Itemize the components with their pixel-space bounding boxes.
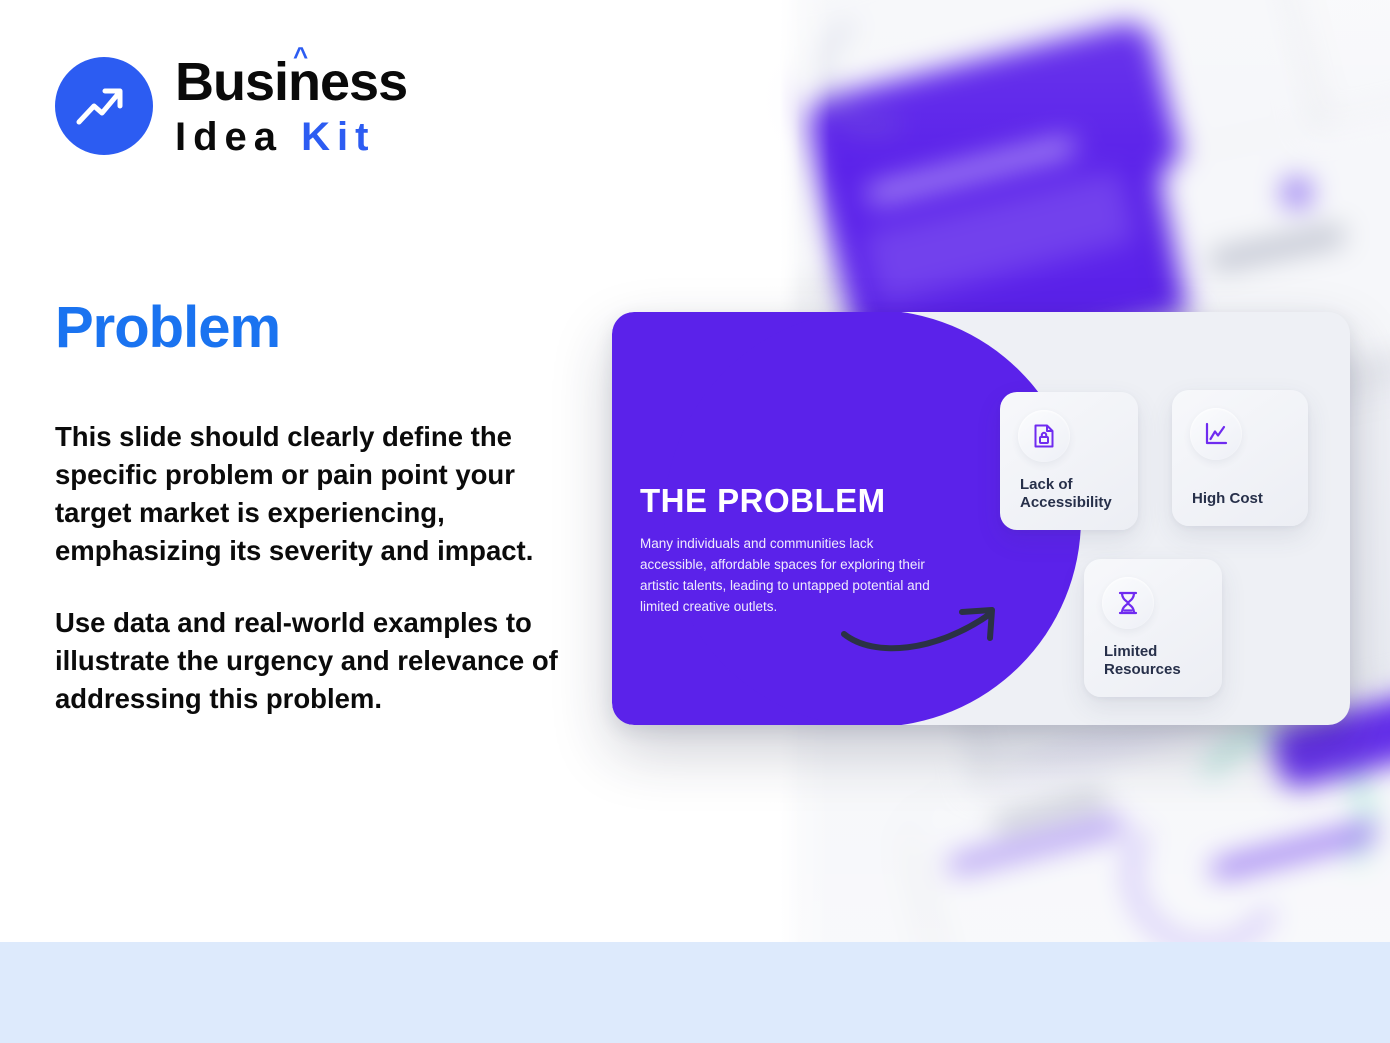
body-paragraph-2: Use data and real-world examples to illu… (55, 604, 565, 718)
brand-logo[interactable]: Business ^ Idea Kit (55, 55, 407, 157)
growth-arrow-chart-icon (55, 57, 153, 155)
curved-arrow-icon (840, 592, 1020, 662)
body-copy: This slide should clearly define the spe… (55, 418, 565, 718)
brand-name-line1: Business ^ (175, 55, 407, 109)
slide-preview-card[interactable]: THE PROBLEM Many individuals and communi… (612, 312, 1350, 725)
slide-title: THE PROBLEM (640, 482, 886, 520)
brand-name-line1-text: Business (175, 52, 407, 112)
document-lock-icon (1018, 410, 1070, 462)
brand-wordmark: Business ^ Idea Kit (175, 55, 407, 157)
page-root: Business ^ Idea Kit Problem This slide s… (0, 0, 1390, 1043)
brand-name-line2: Idea Kit (175, 117, 407, 157)
feature-card-label: Lack of Accessibility (1020, 476, 1128, 512)
feature-card-high-cost[interactable]: High Cost (1172, 390, 1308, 526)
feature-card-accessibility[interactable]: Lack of Accessibility (1000, 392, 1138, 530)
feature-card-limited-resources[interactable]: Limited Resources (1084, 559, 1222, 697)
brand-name-idea: Idea (175, 115, 301, 159)
feature-card-label: Limited Resources (1104, 643, 1212, 679)
brand-name-kit: Kit (301, 115, 375, 159)
footer-band (0, 942, 1390, 1043)
feature-card-label: High Cost (1192, 490, 1298, 508)
body-paragraph-1: This slide should clearly define the spe… (55, 418, 565, 570)
page-title: Problem (55, 298, 280, 359)
hourglass-icon (1102, 577, 1154, 629)
brand-caret-accent: ^ (293, 43, 307, 69)
line-chart-icon (1190, 408, 1242, 460)
